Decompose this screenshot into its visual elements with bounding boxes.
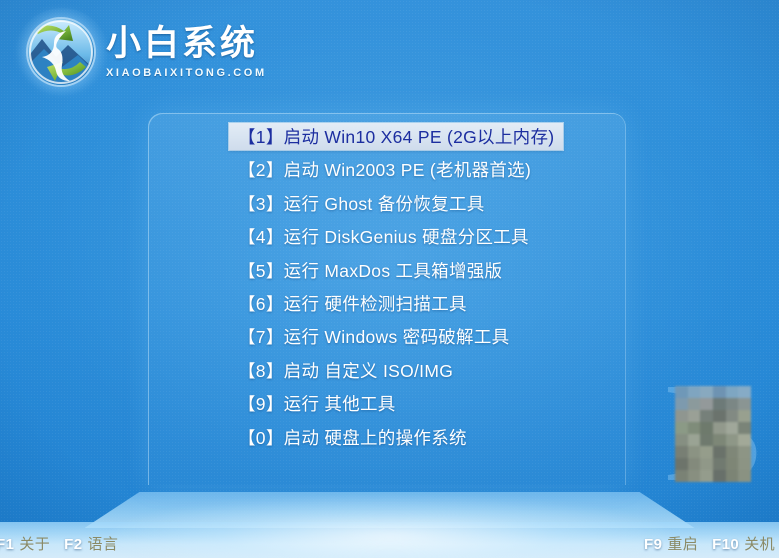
mosaic-cell — [713, 434, 726, 446]
mosaic-cell — [738, 470, 751, 482]
status-fkey-f1[interactable]: F1 — [0, 536, 14, 553]
boot-menu-item-key: 【5】 — [238, 258, 284, 283]
mosaic-cell — [675, 434, 688, 446]
status-label-f2[interactable]: 语言 — [87, 533, 118, 554]
mosaic-cell — [713, 458, 726, 470]
mosaic-cell — [738, 422, 751, 434]
mosaic-cell — [700, 410, 713, 422]
mosaic-cell — [675, 458, 688, 470]
mosaic-cell — [675, 446, 688, 458]
mosaic-cell — [738, 458, 751, 470]
boot-menu-item-label: 启动 Win2003 PE (老机器首选) — [284, 157, 531, 182]
watermark-letter: B — [659, 372, 767, 500]
mosaic-cell — [713, 470, 726, 482]
boot-menu-item-key: 【0】 — [238, 425, 284, 450]
mosaic-cell — [726, 398, 739, 410]
boot-menu-screen: 小白系统 XIAOBAIXITONG.COM 【1】启动 Win10 X64 P… — [0, 0, 779, 558]
mosaic-cell — [726, 386, 739, 398]
boot-menu-panel: 【1】启动 Win10 X64 PE (2G以上内存)【2】启动 Win2003… — [148, 113, 626, 485]
mosaic-cell — [688, 410, 701, 422]
boot-menu-item-6[interactable]: 【6】运行 硬件检测扫描工具 — [229, 290, 476, 317]
mosaic-cell — [675, 410, 688, 422]
brand-name-en: XIAOBAIXITONG.COM — [106, 66, 267, 80]
boot-menu-item-key: 【1】 — [238, 124, 284, 149]
mosaic-cell — [700, 422, 713, 434]
boot-menu-item-key: 【2】 — [238, 157, 284, 182]
boot-menu-item-label: 运行 Windows 密码破解工具 — [284, 324, 510, 349]
mosaic-cell — [675, 422, 688, 434]
mosaic-cell — [700, 386, 713, 398]
pedestal-slab — [85, 492, 695, 528]
boot-menu-item-key: 【4】 — [238, 224, 284, 249]
boot-menu-item-4[interactable]: 【4】运行 DiskGenius 硬盘分区工具 — [229, 223, 538, 250]
boot-menu-item-key: 【7】 — [238, 324, 284, 349]
status-bar: F1关于F2语言 F9重启F10关机 — [0, 532, 779, 558]
mosaic-cell — [726, 458, 739, 470]
mosaic-cell — [738, 446, 751, 458]
status-fkey-f2[interactable]: F2 — [64, 536, 82, 553]
mosaic-cell — [688, 398, 701, 410]
mosaic-cell — [713, 410, 726, 422]
brand-name-cn: 小白系统 — [106, 25, 267, 63]
mosaic-cell — [726, 434, 739, 446]
status-label-f9[interactable]: 重启 — [667, 533, 698, 554]
mosaic-cell — [675, 470, 688, 482]
boot-menu-item-key: 【9】 — [238, 391, 284, 416]
status-bar-right: F9重启F10关机 — [644, 533, 775, 554]
boot-menu-item-label: 启动 自定义 ISO/IMG — [284, 358, 453, 383]
mosaic-cell — [688, 386, 701, 398]
mosaic-block — [675, 386, 751, 482]
boot-menu-item-5[interactable]: 【5】运行 MaxDos 工具箱增强版 — [229, 257, 511, 284]
mosaic-cell — [713, 422, 726, 434]
recycle-swirl-icon — [28, 19, 94, 85]
mosaic-cell — [738, 410, 751, 422]
status-fkey-f9[interactable]: F9 — [644, 536, 662, 553]
boot-menu-item-9[interactable]: 【9】运行 其他工具 — [229, 390, 405, 417]
boot-menu-item-label: 启动 硬盘上的操作系统 — [284, 425, 467, 450]
mosaic-cell — [726, 446, 739, 458]
boot-menu-item-key: 【6】 — [238, 291, 284, 316]
mosaic-cell — [726, 422, 739, 434]
mosaic-cell — [726, 470, 739, 482]
mosaic-cell — [700, 434, 713, 446]
mosaic-cell — [688, 434, 701, 446]
boot-menu-item-0[interactable]: 【0】启动 硬盘上的操作系统 — [229, 424, 476, 451]
boot-menu-item-label: 运行 其他工具 — [284, 391, 396, 416]
mosaic-cell — [688, 470, 701, 482]
boot-menu-item-label: 运行 MaxDos 工具箱增强版 — [284, 258, 503, 283]
brand-text: 小白系统 XIAOBAIXITONG.COM — [106, 25, 267, 80]
mosaic-cell — [688, 446, 701, 458]
mosaic-cell — [700, 458, 713, 470]
boot-menu-item-label: 启动 Win10 X64 PE (2G以上内存) — [284, 124, 555, 149]
mosaic-cell — [738, 434, 751, 446]
boot-menu-item-2[interactable]: 【2】启动 Win2003 PE (老机器首选) — [229, 156, 540, 183]
boot-menu-item-7[interactable]: 【7】运行 Windows 密码破解工具 — [229, 323, 518, 350]
status-label-f10[interactable]: 关机 — [744, 533, 775, 554]
boot-menu-item-label: 运行 Ghost 备份恢复工具 — [284, 191, 485, 216]
boot-menu-item-label: 运行 硬件检测扫描工具 — [284, 291, 467, 316]
mosaic-cell — [738, 398, 751, 410]
mosaic-cell — [700, 398, 713, 410]
mosaic-cell — [700, 446, 713, 458]
mosaic-cell — [675, 386, 688, 398]
status-label-f1[interactable]: 关于 — [19, 533, 50, 554]
status-fkey-f10[interactable]: F10 — [712, 536, 739, 553]
mosaic-cell — [726, 410, 739, 422]
boot-menu-item-1[interactable]: 【1】启动 Win10 X64 PE (2G以上内存) — [229, 123, 563, 150]
boot-menu-item-3[interactable]: 【3】运行 Ghost 备份恢复工具 — [229, 190, 494, 217]
status-bar-left: F1关于F2语言 — [0, 533, 118, 554]
boot-menu-item-key: 【3】 — [238, 191, 284, 216]
mosaic-cell — [713, 446, 726, 458]
mosaic-cell — [688, 458, 701, 470]
boot-menu-item-key: 【8】 — [238, 358, 284, 383]
brand-logo: 小白系统 XIAOBAIXITONG.COM — [14, 8, 284, 96]
mosaic-cell — [688, 422, 701, 434]
mosaic-cell — [675, 398, 688, 410]
mosaic-cell — [713, 398, 726, 410]
censored-watermark: B — [655, 372, 771, 500]
boot-menu-item-8[interactable]: 【8】启动 自定义 ISO/IMG — [229, 357, 462, 384]
mosaic-cell — [700, 470, 713, 482]
mosaic-cell — [713, 386, 726, 398]
boot-menu-item-label: 运行 DiskGenius 硬盘分区工具 — [284, 224, 529, 249]
mosaic-cell — [738, 386, 751, 398]
